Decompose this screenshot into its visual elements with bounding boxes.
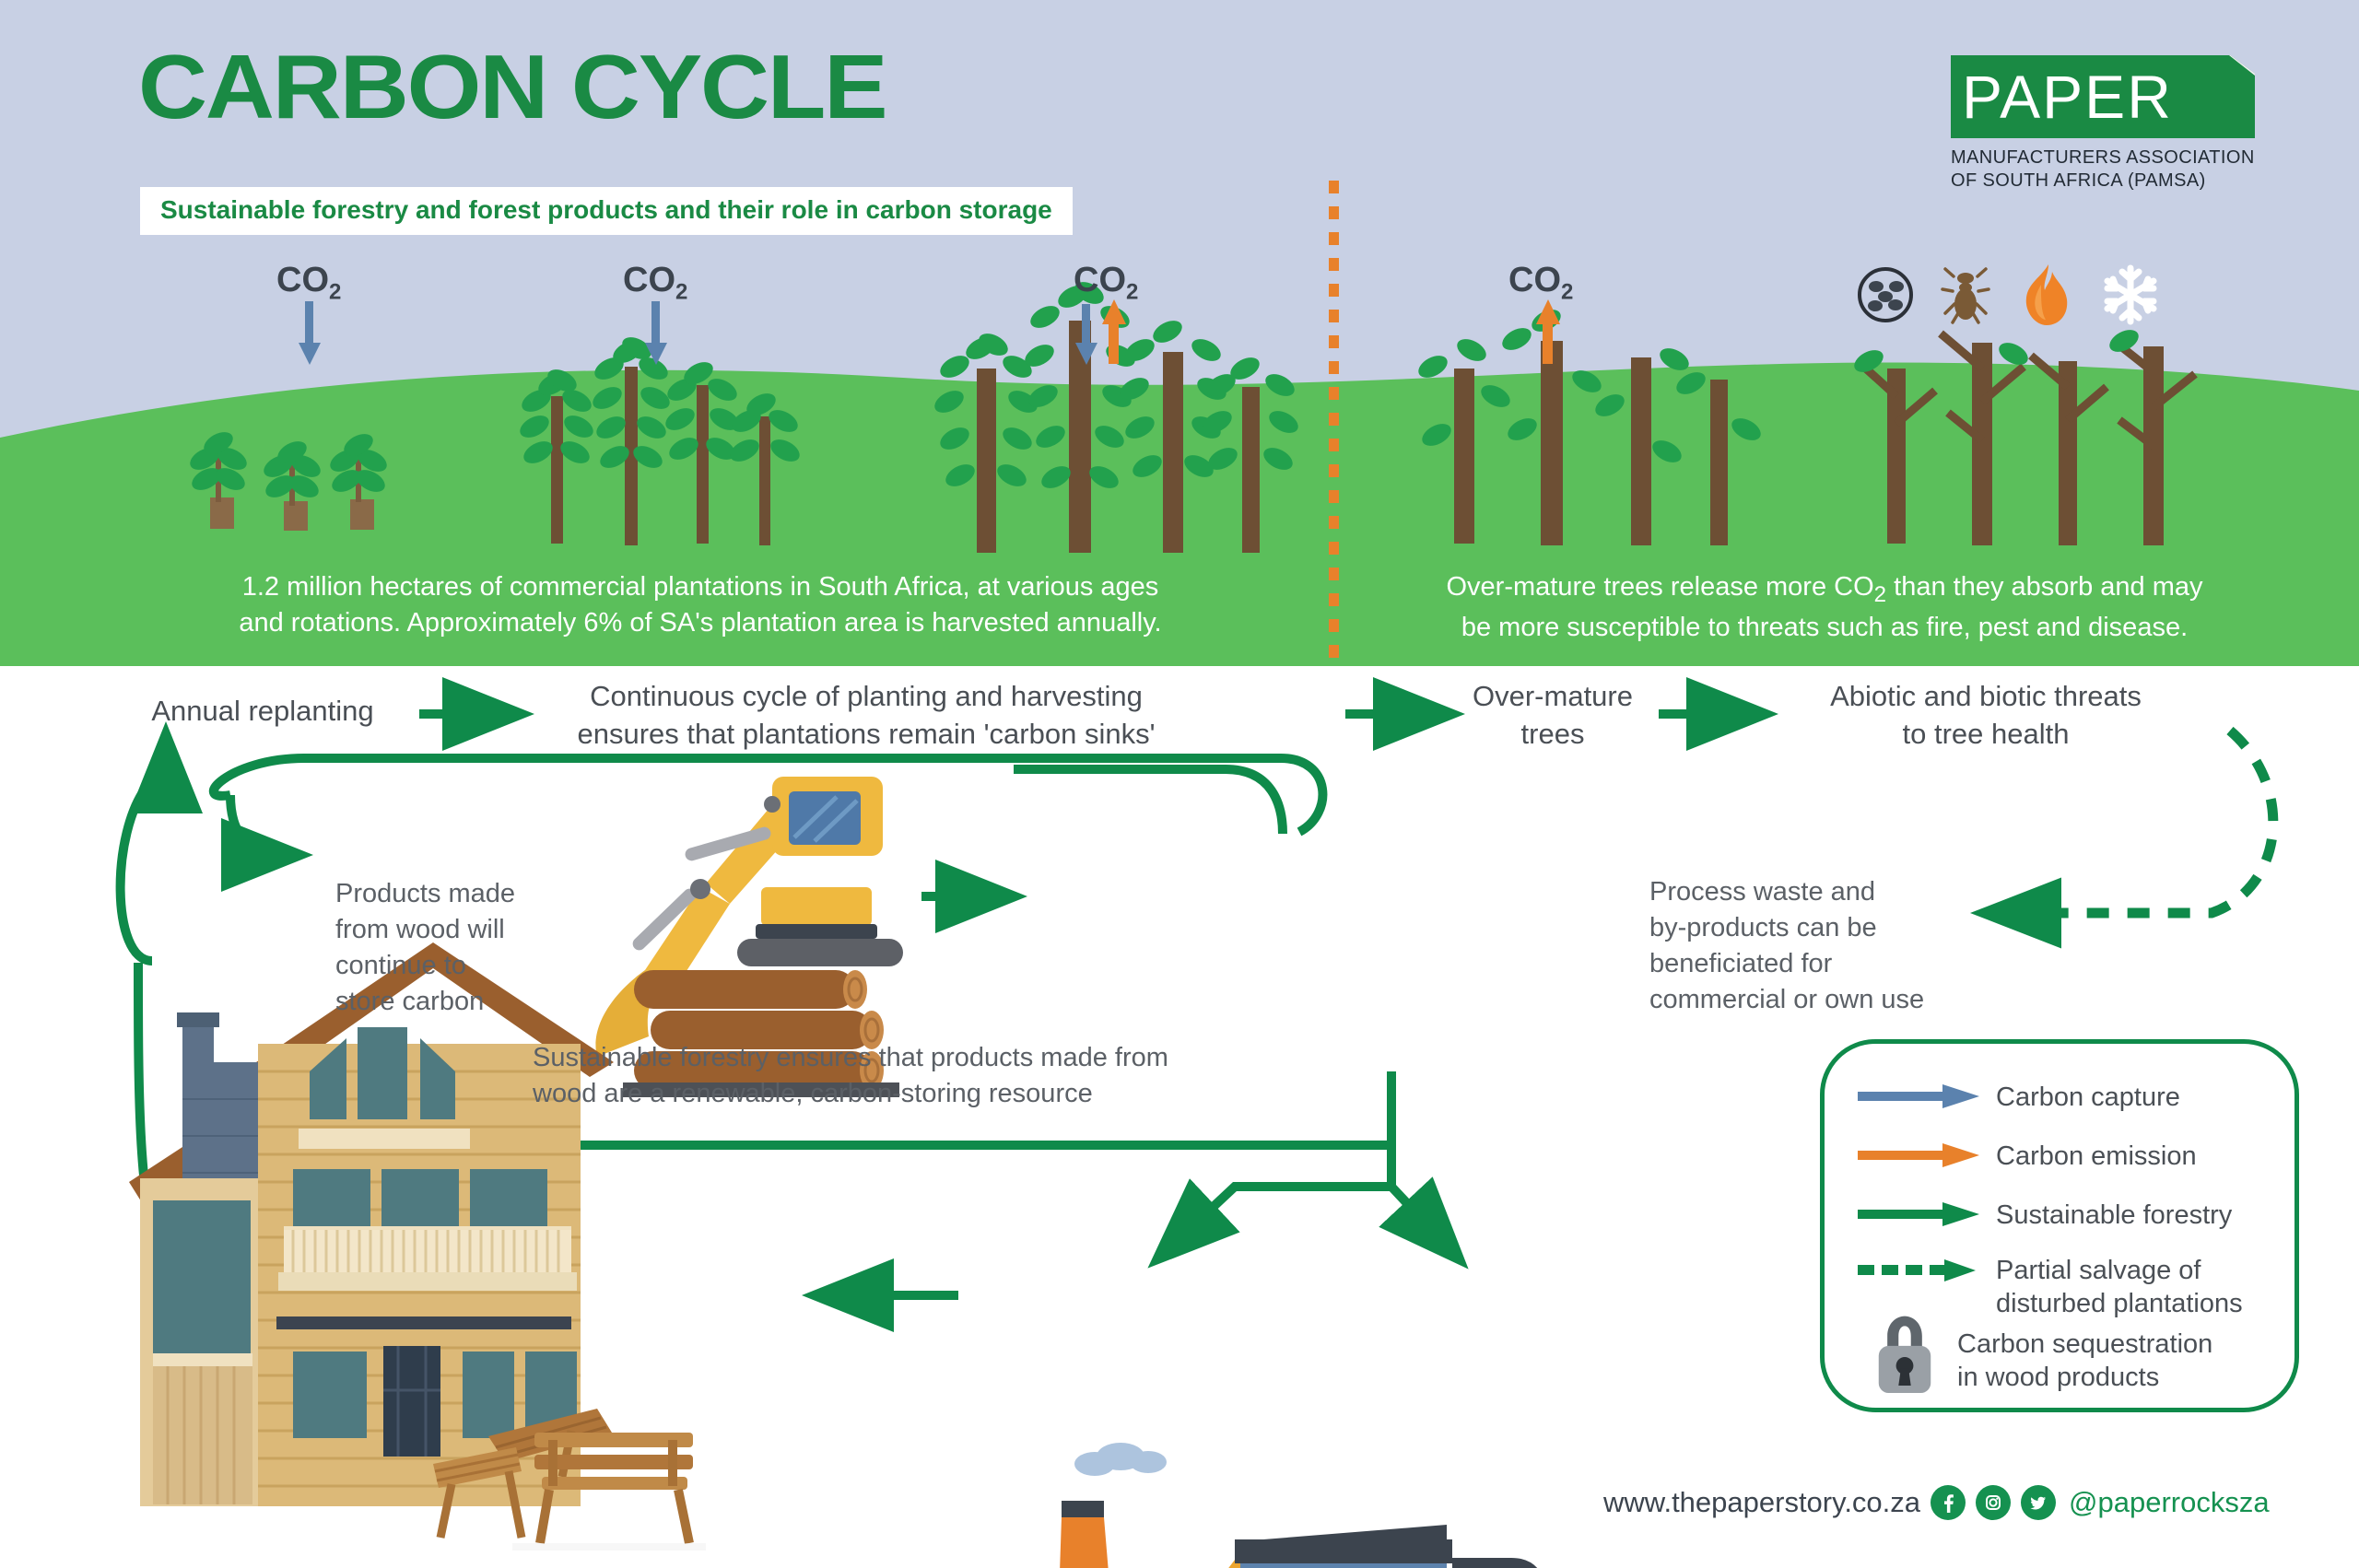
caption-left: 1.2 million hectares of commercial plant…: [147, 569, 1253, 641]
products-line3: continue to: [335, 948, 612, 984]
disease-icon: [1857, 266, 1914, 323]
threat-icons-row: [1857, 263, 2161, 327]
partial-salvage-line1: Partial salvage of: [1996, 1254, 2243, 1287]
text-sustainable-forestry: Sustainable forestry ensures that produc…: [533, 1040, 1307, 1112]
logo-subtitle-line2: OF SOUTH AFRICA (PAMSA): [1951, 170, 2264, 193]
text-process-waste: Process waste and by-products can be ben…: [1649, 874, 1963, 1017]
conveyor-illustration: [1126, 1550, 1309, 1568]
over-mature-line1: Over-mature: [1438, 677, 1668, 715]
text-products-store-carbon: Products made from wood will continue to…: [335, 876, 612, 1019]
subtitle-banner: Sustainable forestry and forest products…: [140, 187, 1073, 235]
frost-snowflake-icon: [2100, 264, 2161, 325]
page-fold-icon: [2229, 55, 2255, 76]
green-dashed-arrow-icon: [1858, 1254, 1979, 1285]
products-line1: Products made: [335, 876, 612, 912]
sustainable-line1: Sustainable forestry ensures that produc…: [533, 1040, 1307, 1076]
flow-label-continuous-cycle: Continuous cycle of planting and harvest…: [544, 677, 1189, 753]
caption-left-line1: 1.2 million hectares of commercial plant…: [147, 569, 1253, 605]
process-waste-line1: Process waste and: [1649, 874, 1963, 910]
logo-wordmark-block: PAPER: [1951, 55, 2255, 138]
top-scene-panel: CARBON CYCLE Sustainable forestry and fo…: [0, 0, 2359, 666]
scene-divider: [1329, 181, 1339, 667]
legend-item-carbon-emission: Carbon emission: [1858, 1140, 2197, 1173]
over-mature-line2: trees: [1438, 715, 1668, 753]
sequestration-line2: in wood products: [1957, 1361, 2212, 1394]
pest-beetle-icon: [1940, 265, 1991, 324]
legend-label-carbon-emission: Carbon emission: [1996, 1140, 2197, 1173]
pamsa-logo: PAPER MANUFACTURERS ASSOCIATION OF SOUTH…: [1951, 55, 2264, 193]
caption-right-part1: Over-mature trees release more CO: [1447, 572, 1874, 602]
blue-arrow-icon: [1858, 1081, 1979, 1112]
mill-building-illustration: [1021, 1443, 1196, 1568]
abiotic-line2: to tree health: [1778, 715, 2193, 753]
legend-item-sustainable-forestry: Sustainable forestry: [1858, 1199, 2232, 1232]
caption-left-line2: and rotations. Approximately 6% of SA's …: [147, 605, 1253, 641]
padlock-icon: [1869, 1311, 1941, 1396]
legend-box: Carbon capture Carbon emission Sustainab…: [1820, 1039, 2299, 1412]
process-waste-line2: by-products can be: [1649, 910, 1963, 946]
co2-label-1: CO2: [276, 261, 341, 306]
fire-icon: [2017, 263, 2074, 327]
house-illustration: [129, 942, 614, 1506]
products-line4: store carbon: [335, 984, 612, 1020]
facebook-icon[interactable]: [1931, 1485, 1966, 1520]
excavator-illustration: [595, 777, 903, 1057]
page-title: CARBON CYCLE: [138, 35, 886, 139]
legend-label-carbon-capture: Carbon capture: [1996, 1081, 2180, 1114]
legend-item-carbon-capture: Carbon capture: [1858, 1081, 2180, 1114]
process-waste-line4: commercial or own use: [1649, 982, 1963, 1018]
process-waste-line3: beneficiated for: [1649, 946, 1963, 982]
products-line2: from wood will: [335, 912, 612, 948]
abiotic-line1: Abiotic and biotic threats: [1778, 677, 2193, 715]
caption-right-line2: be more susceptible to threats such as f…: [1364, 610, 2285, 646]
twitter-icon[interactable]: [2021, 1485, 2056, 1520]
logo-subtitle-line1: MANUFACTURERS ASSOCIATION: [1951, 146, 2264, 170]
flow-label-abiotic-threats: Abiotic and biotic threats to tree healt…: [1778, 677, 2193, 753]
green-arrow-icon: [1858, 1199, 1979, 1230]
social-handle[interactable]: @paperrocksza: [2069, 1486, 2270, 1519]
subtitle-text: Sustainable forestry and forest products…: [160, 195, 1052, 224]
deck-furniture-illustration: [433, 1409, 706, 1550]
sequestration-line1: Carbon sequestration: [1957, 1328, 2212, 1361]
caption-right-part2: than they absorb and may: [1886, 572, 2202, 602]
legend-label-carbon-sequestration: Carbon sequestration in wood products: [1957, 1328, 2212, 1395]
co2-label-3: CO2: [1074, 261, 1138, 306]
co2-label-4: CO2: [1508, 261, 1573, 306]
infographic-root: CARBON CYCLE Sustainable forestry and fo…: [0, 0, 2359, 1568]
legend-label-sustainable-forestry: Sustainable forestry: [1996, 1199, 2232, 1232]
logo-subtitle: MANUFACTURERS ASSOCIATION OF SOUTH AFRIC…: [1951, 146, 2264, 193]
footer-bar: www.thepaperstory.co.za @paperrocksza: [1603, 1485, 2270, 1520]
flow-label-annual-replanting: Annual replanting: [101, 692, 424, 730]
orange-arrow-icon: [1858, 1140, 1979, 1171]
caption-right-sub: 2: [1874, 582, 1886, 607]
logo-wordmark: PAPER: [1962, 62, 2173, 132]
legend-item-carbon-sequestration: Carbon sequestration in wood products: [1869, 1311, 2212, 1396]
sustainable-line2: wood are a renewable, carbon-storing res…: [533, 1076, 1307, 1112]
continuous-cycle-line1: Continuous cycle of planting and harvest…: [544, 677, 1189, 715]
pulp-mill-illustration: [1235, 1525, 1452, 1568]
caption-right-line1: Over-mature trees release more CO2 than …: [1364, 569, 2285, 610]
website-url[interactable]: www.thepaperstory.co.za: [1603, 1486, 1920, 1519]
instagram-icon[interactable]: [1976, 1485, 2011, 1520]
co2-label-2: CO2: [623, 261, 687, 306]
continuous-cycle-line2: ensures that plantations remain 'carbon …: [544, 715, 1189, 753]
flow-label-over-mature-trees: Over-mature trees: [1438, 677, 1668, 753]
caption-right: Over-mature trees release more CO2 than …: [1364, 569, 2285, 647]
